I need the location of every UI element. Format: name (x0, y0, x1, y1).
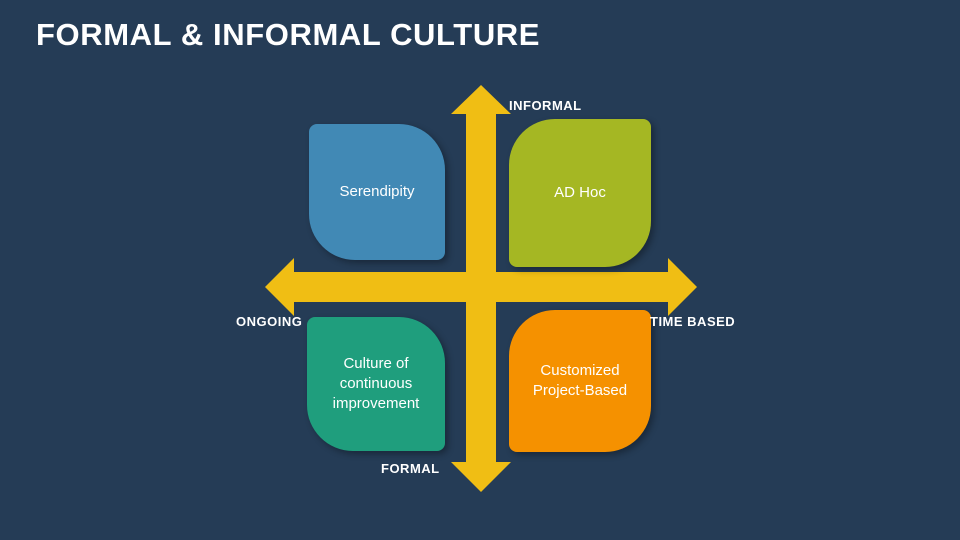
quadrant-culture-of-continuous-improvement[interactable]: Culture of continuous improvement (307, 317, 445, 451)
axis-label-informal: INFORMAL (509, 98, 582, 113)
quadrant-serendipity[interactable]: Serendipity (309, 124, 445, 260)
quadrant-customized-project-based[interactable]: Customized Project-Based (509, 310, 651, 452)
quadrant-ad-hoc[interactable]: AD Hoc (509, 119, 651, 267)
quadrant-ad-hoc-label: AD Hoc (554, 183, 606, 203)
slide-canvas: FORMAL & INFORMAL CULTURE Serendipity AD… (0, 0, 960, 540)
arrow-center-junction (466, 268, 496, 307)
quadrant-culture-of-continuous-improvement-label: Culture of continuous improvement (333, 354, 420, 413)
axis-label-time-based: TIME BASED (650, 314, 735, 329)
arrow-up-icon (451, 85, 511, 268)
axis-label-ongoing: ONGOING (236, 314, 302, 329)
arrow-center-junction-h (462, 272, 500, 302)
quadrant-customized-project-based-label: Customized Project-Based (533, 361, 627, 401)
quadrant-axis-cross-arrows (0, 0, 960, 540)
quadrant-serendipity-label: Serendipity (339, 182, 414, 202)
axis-label-formal: FORMAL (381, 461, 440, 476)
arrow-down-icon (451, 305, 511, 492)
arrow-left-icon (265, 258, 466, 316)
formal-informal-culture-matrix: Serendipity AD Hoc Culture of continuous… (0, 0, 960, 540)
